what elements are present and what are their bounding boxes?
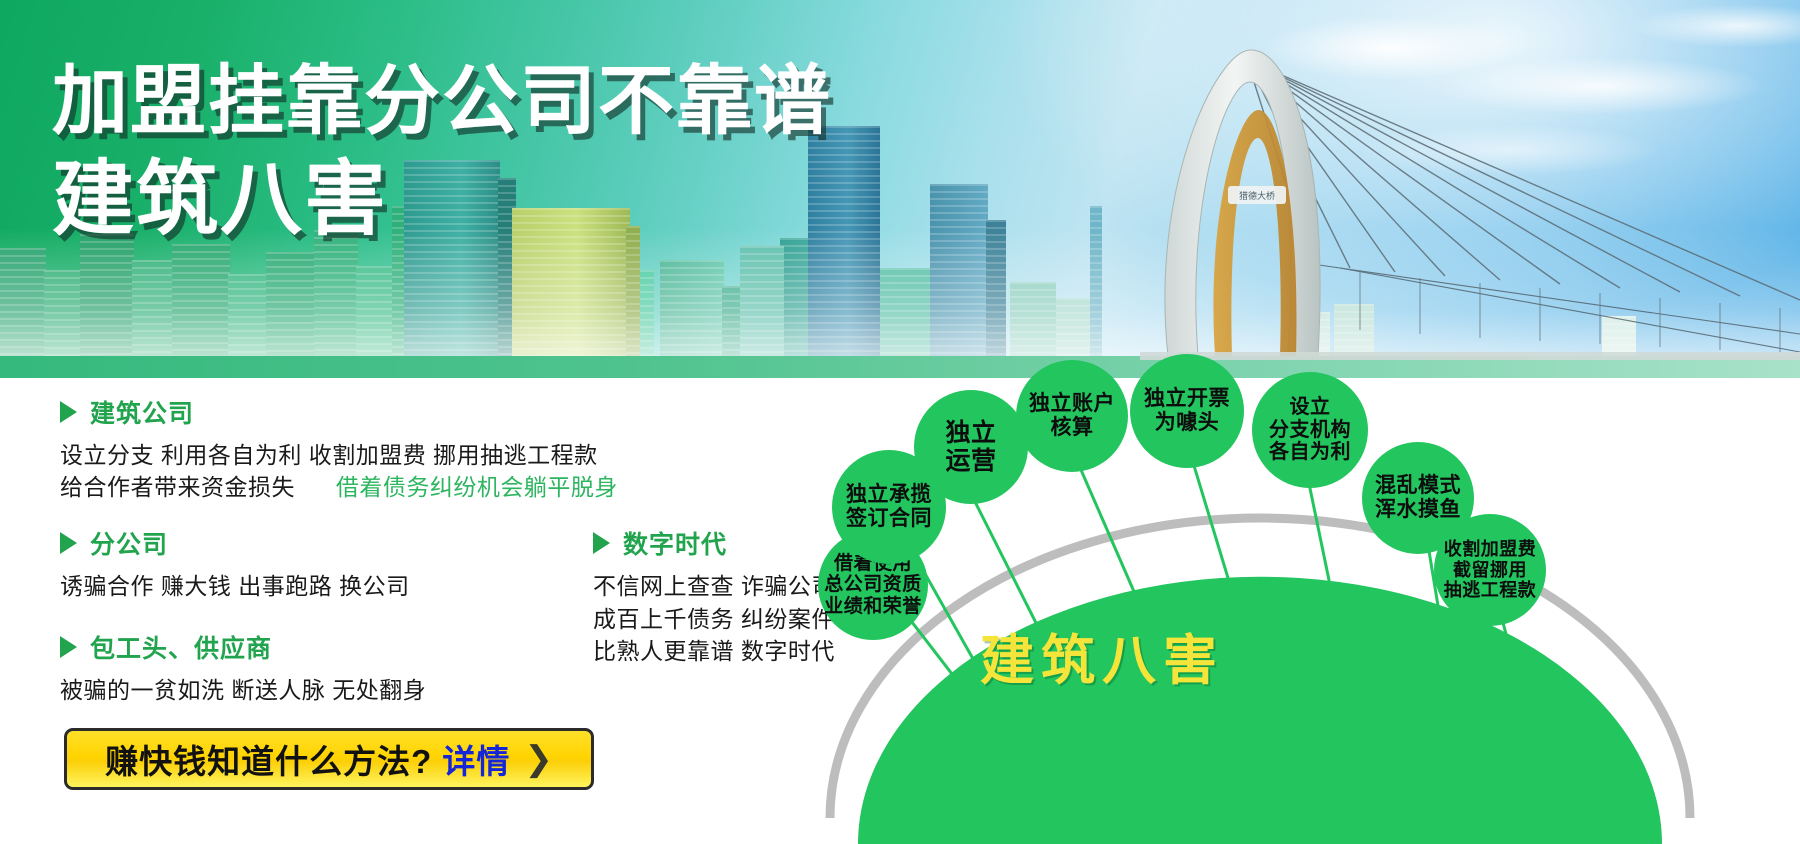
headline-line-1: 加盟挂靠分公司不靠谱: [52, 62, 832, 143]
bubble-line: 截留挪用: [1444, 560, 1537, 581]
bubble-4[interactable]: 独立开票 为噱头: [1130, 354, 1244, 468]
section-line-text: 给合作者带来资金损失: [60, 474, 295, 500]
section-line: 设立分支 利用各自为利 收割加盟费 挪用抽逃工程款: [60, 439, 820, 471]
chevron-right-icon: ❯: [524, 742, 553, 776]
section-title: 数字时代: [623, 525, 727, 561]
section-digital-era: 数字时代 不信网上查查 诈骗公司 成百上千债务 纠纷案件 比熟人更靠谱 数字时代: [593, 525, 835, 667]
section-header: 建筑公司: [60, 394, 820, 430]
bubble-line: 业绩和荣誉: [824, 596, 922, 618]
bazhai-diagram: 借着使用 总公司资质 业绩和荣誉 独立承揽 签订合同 独立 运营 独立账户 核算: [800, 378, 1800, 844]
dome-center-label: 建筑八害: [980, 616, 1224, 695]
section-construction-company: 建筑公司 设立分支 利用各自为利 收割加盟费 挪用抽逃工程款 给合作者带来资金损…: [60, 394, 820, 503]
bubble-line: 收割加盟费: [1444, 539, 1537, 560]
section-title: 分公司: [90, 525, 168, 561]
section-line: 成百上千债务 纠纷案件: [593, 603, 835, 635]
bubble-line: 独立账户: [1029, 392, 1115, 416]
triangle-bullet-icon: [593, 532, 610, 554]
triangle-bullet-icon: [60, 532, 77, 554]
svg-text:猎德大桥: 猎德大桥: [1239, 190, 1275, 201]
triangle-bullet-icon: [60, 401, 77, 423]
cta-button[interactable]: 赚快钱知道什么方法? 详情 ❯: [64, 728, 594, 790]
section-line: 被骗的一贫如洗 断送人脉 无处翻身: [60, 674, 820, 706]
bubble-line: 核算: [1029, 416, 1115, 440]
bubble-7[interactable]: 收割加盟费 截留挪用 抽逃工程款: [1434, 514, 1546, 626]
section-row: 分公司 诱骗合作 赚大钱 出事跑路 换公司 数字时代 不信网上查查 诈骗公司 成…: [60, 525, 820, 602]
bubble-line: 独立承揽: [846, 483, 932, 507]
left-text-column: 建筑公司 设立分支 利用各自为利 收割加盟费 挪用抽逃工程款 给合作者带来资金损…: [60, 394, 820, 728]
bubble-line: 签订合同: [846, 507, 932, 531]
bubble-line: 浑水摸鱼: [1375, 498, 1461, 522]
hero-banner: 猎德大桥 加盟挂靠分公司不靠谱 建筑八害: [0, 0, 1800, 378]
section-line: 比熟人更靠谱 数字时代: [593, 635, 835, 667]
bubble-line: 独立: [945, 419, 996, 448]
bubble-line: 分支机构: [1269, 419, 1351, 442]
bubble-line: 各自为利: [1269, 441, 1351, 464]
main-content: 建筑公司 设立分支 利用各自为利 收割加盟费 挪用抽逃工程款 给合作者带来资金损…: [0, 378, 1800, 844]
bubble-line: 运营: [945, 447, 996, 476]
cta-link-label[interactable]: 详情: [442, 735, 510, 783]
bubble-3[interactable]: 独立账户 核算: [1016, 360, 1128, 472]
section-line: 不信网上查查 诈骗公司: [593, 570, 835, 602]
hero-headline: 加盟挂靠分公司不靠谱 建筑八害: [52, 62, 832, 243]
section-line-accent: 借着债务纠纷机会躺平脱身: [336, 474, 618, 500]
triangle-bullet-icon: [60, 636, 77, 658]
bubble-5[interactable]: 设立 分支机构 各自为利: [1252, 372, 1368, 488]
bubble-2[interactable]: 独立 运营: [914, 390, 1028, 504]
bubble-line: 抽逃工程款: [1444, 580, 1537, 601]
bubble-line: 混乱模式: [1375, 474, 1461, 498]
section-header: 数字时代: [593, 525, 835, 561]
headline-line-2: 建筑八害: [52, 157, 832, 244]
bubble-line: 总公司资质: [824, 574, 922, 596]
bubble-line: 为噱头: [1144, 411, 1230, 435]
section-line: 给合作者带来资金损失 借着债务纠纷机会躺平脱身: [60, 471, 820, 503]
section-title: 包工头、供应商: [90, 629, 272, 665]
cta-label: 赚快钱知道什么方法?: [105, 735, 432, 783]
bubble-line: 设立: [1269, 396, 1351, 419]
bubble-line: 独立开票: [1144, 387, 1230, 411]
section-title: 建筑公司: [90, 394, 194, 430]
